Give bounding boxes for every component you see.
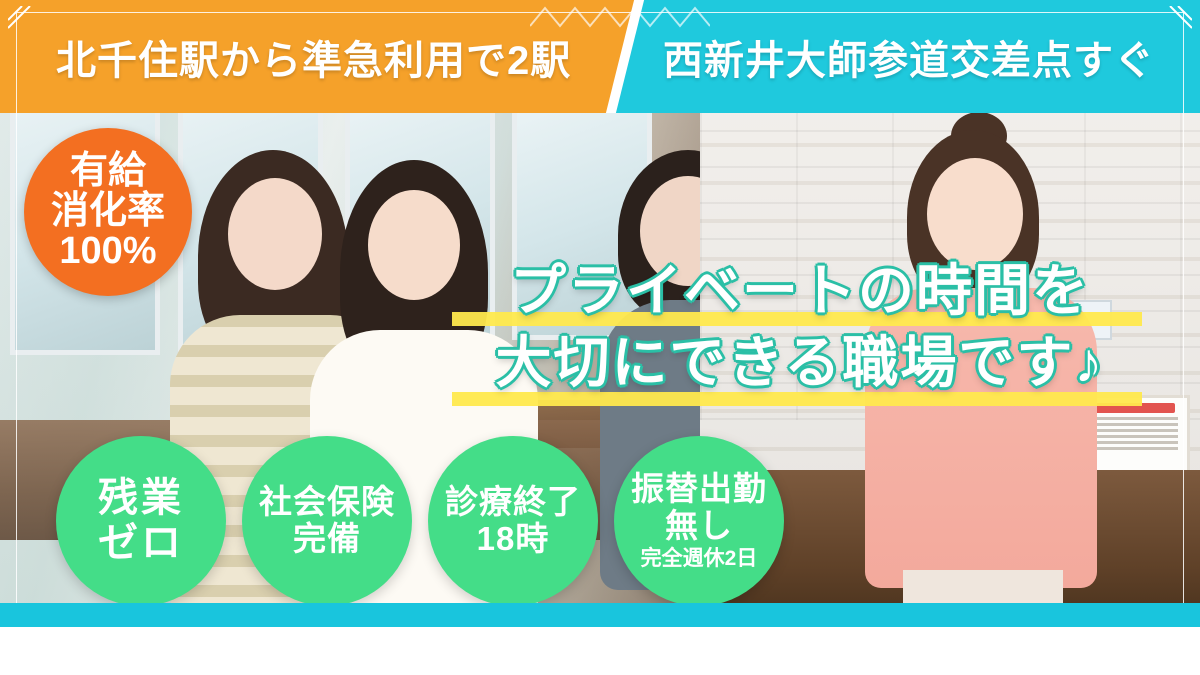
feature-circle-overtime: 残業 ゼロ (56, 436, 226, 606)
paid-leave-badge: 有給 消化率 100% (24, 128, 192, 296)
zigzag-ornament-icon (530, 4, 710, 30)
feature-line-1: 社会保険 (259, 484, 395, 521)
feature-line-2: 18時 (477, 521, 550, 558)
feature-circle-no-substitute-work: 振替出勤 無し 完全週休2日 (614, 436, 784, 606)
headline-line-2: 大切にできる職場です♪ (496, 327, 1105, 399)
feature-line-2: 無し (665, 508, 733, 545)
headline-line-1: プライベートの時間を (510, 255, 1090, 327)
feature-line-1: 残業 (98, 476, 184, 521)
top-banner: 北千住駅から準急利用で2駅 西新井大師参道交差点すぐ (0, 0, 1200, 113)
feature-line-2: 完備 (293, 521, 361, 558)
feature-circle-group: 残業 ゼロ 社会保険 完備 診療終了 18時 振替出勤 無し 完全週休2日 (56, 436, 784, 606)
badge-line-2: 消化率 (51, 192, 165, 232)
feature-circle-insurance: 社会保険 完備 (242, 436, 412, 606)
feature-line-2: ゼロ (98, 521, 184, 566)
banner-access-right: 西新井大師参道交差点すぐ (663, 28, 1155, 86)
badge-line-3: 100% (59, 232, 156, 272)
feature-circle-closing-time: 診療終了 18時 (428, 436, 598, 606)
bottom-cyan-strip (0, 603, 1200, 627)
feature-line-3: 完全週休2日 (641, 547, 758, 571)
feature-line-1: 振替出勤 (631, 471, 767, 508)
feature-line-1: 診療終了 (445, 484, 581, 521)
banner-access-left: 北千住駅から準急利用で2駅 (56, 28, 571, 86)
badge-line-1: 有給 (70, 152, 146, 192)
bottom-white-strip (0, 627, 1200, 675)
recruitment-poster: 北千住駅から準急利用で2駅 西新井大師参道交差点すぐ 有給 消化率 100% プ… (0, 0, 1200, 675)
headline: プライベートの時間を 大切にできる職場です♪ (430, 255, 1170, 398)
